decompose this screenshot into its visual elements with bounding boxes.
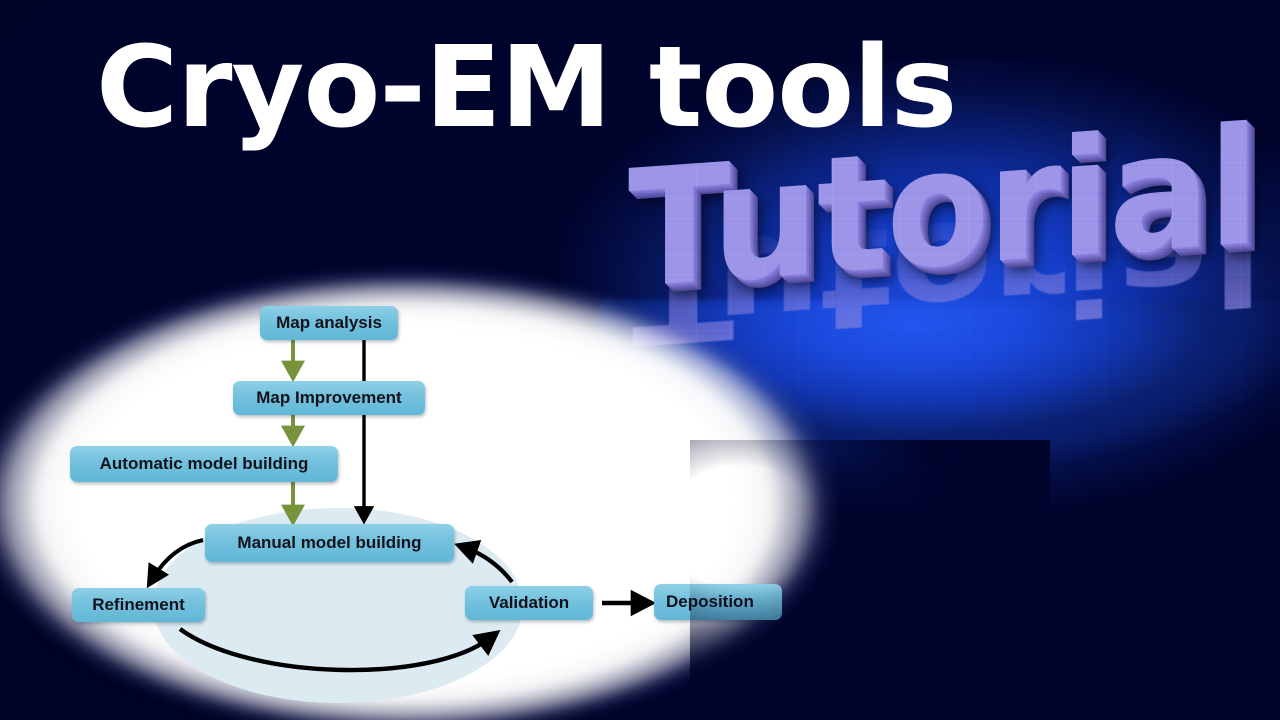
arrow-refinement-to-validation <box>180 629 490 670</box>
slide-canvas: Tutorial Tutorial Cryo-EM tools <box>0 0 1280 720</box>
node-automatic-model-building[interactable]: Automatic model building <box>70 446 338 482</box>
node-manual-model-building[interactable]: Manual model building <box>205 524 454 562</box>
node-map-analysis[interactable]: Map analysis <box>260 306 398 340</box>
arrow-validation-to-manual-model <box>466 548 512 582</box>
cryoem-workflow-diagram: Map analysis Map Improvement Automatic m… <box>0 0 1280 720</box>
node-deposition[interactable]: Deposition <box>654 584 782 620</box>
node-map-improvement[interactable]: Map Improvement <box>233 381 425 415</box>
arrow-manual-model-to-refinement <box>153 540 203 578</box>
node-validation[interactable]: Validation <box>465 586 593 620</box>
node-refinement[interactable]: Refinement <box>72 588 205 622</box>
